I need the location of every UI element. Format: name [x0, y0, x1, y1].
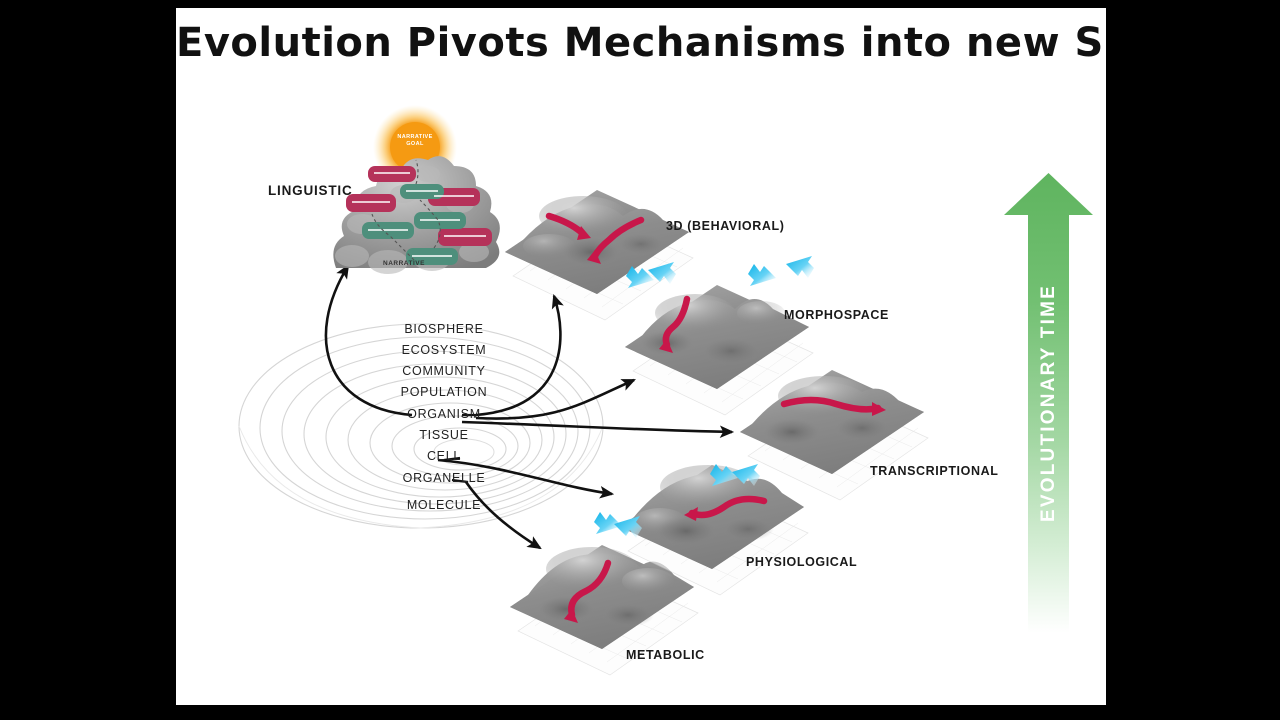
narrative-base-label: NARRATIVE	[383, 260, 425, 267]
narrative-goal-label: NARRATIVE GOAL	[384, 134, 446, 148]
hierarchy-level-organism: ORGANISM	[354, 407, 534, 421]
landscape-behavioral	[505, 190, 693, 320]
evolutionary-time-arrow	[1001, 173, 1096, 633]
label-transcriptional: TRANSCRIPTIONAL	[870, 464, 998, 478]
hierarchy-level-cell: CELL	[354, 449, 534, 463]
arrow-organelle-to-metabolic	[466, 482, 540, 548]
linguistic-narrative-cluster	[333, 105, 500, 274]
exchange-arrow-morphospace-transcriptional	[748, 256, 814, 286]
label-3d-behavioral: 3D (BEHAVIORAL)	[666, 219, 785, 233]
hierarchy-level-ecosystem: ECOSYSTEM	[354, 343, 534, 357]
presentation-slide: Evolution Pivots Mechanisms into new Spa…	[176, 8, 1106, 705]
hierarchy-level-population: POPULATION	[354, 385, 534, 399]
hierarchy-level-community: COMMUNITY	[354, 364, 534, 378]
hierarchy-level-tissue: TISSUE	[354, 428, 534, 442]
hierarchy-level-organelle: ORGANELLE	[354, 471, 534, 485]
landscape-transcriptional	[740, 370, 928, 500]
hierarchy-level-molecule: MOLECULE	[354, 498, 534, 512]
screenshot-stage: Evolution Pivots Mechanisms into new Spa…	[0, 0, 1280, 720]
label-physiological: PHYSIOLOGICAL	[746, 555, 857, 569]
diagram-canvas	[176, 8, 1106, 705]
label-morphospace: MORPHOSPACE	[784, 308, 889, 322]
linguistic-label: LINGUISTIC	[268, 183, 353, 198]
label-metabolic: METABOLIC	[626, 648, 705, 662]
exchange-arrow-physiological-metabolic	[594, 512, 642, 538]
hierarchy-level-biosphere: BIOSPHERE	[354, 322, 534, 336]
